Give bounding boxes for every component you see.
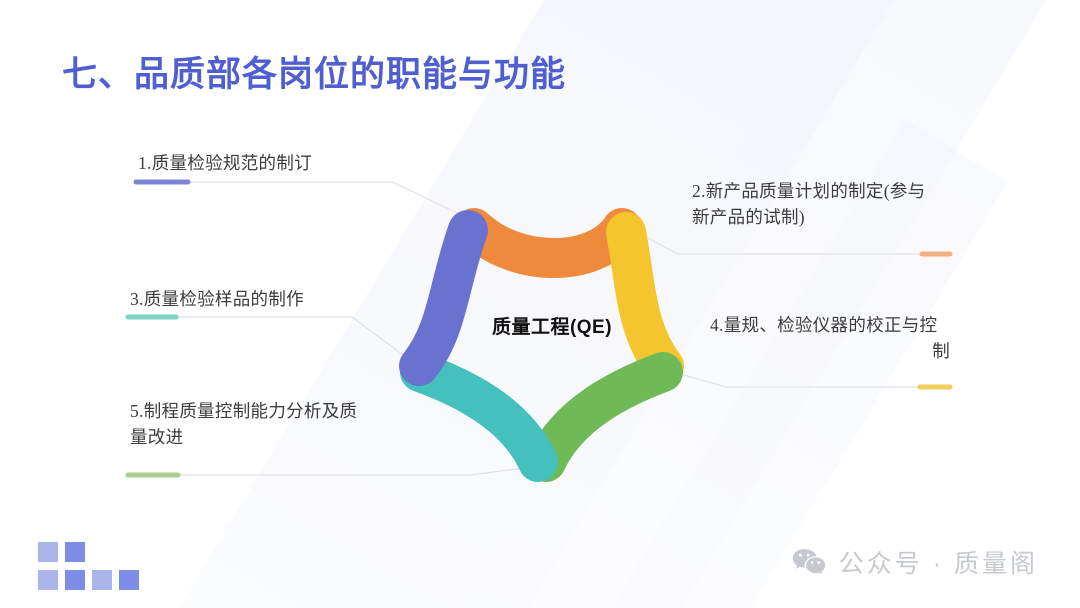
- watermark: 公众号 · 质量阁: [792, 544, 1038, 580]
- decoration-square-3: [38, 570, 58, 590]
- item-label-2-line1: 2.新产品质量计划的制定(参与: [692, 178, 958, 204]
- wechat-icon: [792, 548, 826, 576]
- arc-teal: [420, 372, 538, 462]
- connector-line-5: [178, 466, 540, 475]
- item-label-2: 2.新产品质量计划的制定(参与 新产品的试制): [692, 178, 958, 230]
- item-label-2-line2: 新产品的试制): [692, 204, 958, 230]
- connector-line-4: [666, 370, 920, 387]
- item-label-3-line1: 3.质量检验样品的制作: [130, 286, 430, 312]
- decoration-square-1: [38, 542, 58, 562]
- arc-orange: [474, 228, 622, 258]
- item-label-3: 3.质量检验样品的制作: [130, 286, 430, 312]
- decoration-square-5: [92, 570, 112, 590]
- arc-yellow: [626, 232, 664, 366]
- decoration-square-6: [119, 570, 139, 590]
- watermark-text: 公众号 · 质量阁: [839, 544, 1038, 580]
- item-label-5-line2: 量改进: [130, 424, 430, 450]
- decoration-square-2: [65, 542, 85, 562]
- connector-line-1: [188, 182, 470, 219]
- item-label-4-line2: 制: [710, 338, 950, 364]
- arc-green: [546, 372, 663, 462]
- item-label-1-line1: 1.质量检验规范的制订: [138, 150, 438, 176]
- item-label-5-line1: 5.制程质量控制能力分析及质: [130, 398, 430, 424]
- item-label-4-line1: 4.量规、检验仪器的校正与控: [710, 312, 950, 338]
- connector-line-3: [176, 317, 418, 366]
- item-label-5: 5.制程质量控制能力分析及质 量改进: [130, 398, 430, 450]
- item-label-1: 1.质量检验规范的制订: [138, 150, 438, 176]
- item-label-4: 4.量规、检验仪器的校正与控 制: [710, 312, 950, 364]
- decoration-square-4: [65, 570, 85, 590]
- slide-canvas: 七、品质部各岗位的职能与功能: [0, 0, 1080, 608]
- decoration-squares: [38, 542, 148, 596]
- star-arcs: [419, 228, 664, 462]
